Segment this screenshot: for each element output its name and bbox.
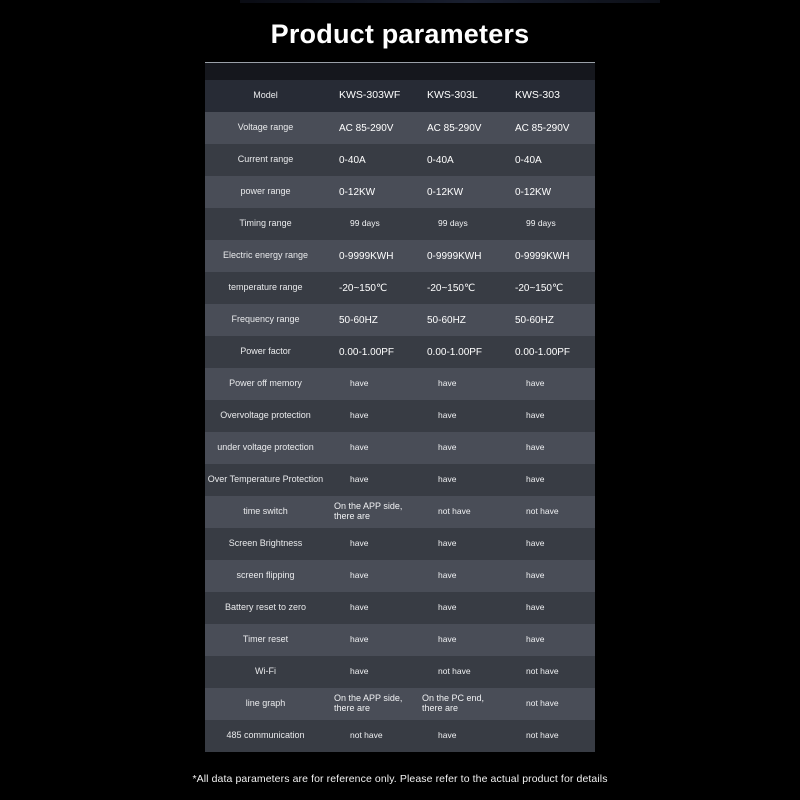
row-value-col-1: have [330,475,418,484]
row-label: under voltage protection [205,443,330,453]
header-model-2: KWS-303L [418,90,506,102]
row-value-col-2: have [418,411,506,420]
row-label: line graph [205,699,330,709]
row-value-col-1: not have [330,731,418,740]
top-edge-strip [240,0,660,3]
row-label: Screen Brightness [205,539,330,549]
row-label: Power off memory [205,379,330,389]
row-value-col-2: 0.00-1.00PF [418,347,506,358]
row-label: power range [205,187,330,197]
table-row: Timer resethavehavehave [205,624,595,656]
row-value-col-3: 0-9999KWH [506,251,595,262]
row-value-col-3: 0-12KW [506,187,595,198]
row-value-col-1: have [330,379,418,388]
table-row: Screen Brightnesshavehavehave [205,528,595,560]
table-row: Timing range99 days99 days99 days [205,208,595,240]
row-value-col-1: have [330,635,418,644]
table-row: Overvoltage protectionhavehavehave [205,400,595,432]
row-label: Current range [205,155,330,165]
table-row: temperature range-20~150℃-20~150℃-20~150… [205,272,595,304]
table-row: Frequency range50-60HZ50-60HZ50-60HZ [205,304,595,336]
row-label: Power factor [205,347,330,357]
row-value-col-2: have [418,635,506,644]
row-value-col-2: have [418,731,506,740]
row-value-col-2: have [418,443,506,452]
row-value-col-1: -20~150℃ [330,283,418,294]
row-label: Electric energy range [205,251,330,261]
row-value-col-2: On the PC end, there are [418,694,506,714]
row-value-col-2: 0-9999KWH [418,251,506,262]
row-value-col-2: 0-40A [418,155,506,166]
header-model-3: KWS-303 [506,90,595,102]
row-value-col-3: not have [506,731,595,740]
table-row: under voltage protectionhavehavehave [205,432,595,464]
header-label-model: Model [205,91,330,101]
row-value-col-1: 99 days [330,219,418,228]
table-row: line graphOn the APP side, there areOn t… [205,688,595,720]
row-value-col-1: 0.00-1.00PF [330,347,418,358]
row-value-col-1: have [330,539,418,548]
row-value-col-2: have [418,571,506,580]
row-value-col-1: have [330,571,418,580]
row-label: Over Temperature Protection [205,475,330,485]
row-value-col-1: have [330,603,418,612]
table-row: Battery reset to zerohavehavehave [205,592,595,624]
table-row: Power factor0.00-1.00PF0.00-1.00PF0.00-1… [205,336,595,368]
header-model-1: KWS-303WF [330,90,418,102]
table-row: time switchOn the APP side, there arenot… [205,496,595,528]
footnote: *All data parameters are for reference o… [0,773,800,785]
parameters-table: Model KWS-303WF KWS-303L KWS-303 Voltage… [205,62,595,752]
row-value-col-1: have [330,411,418,420]
row-value-col-2: have [418,603,506,612]
table-row: Over Temperature Protectionhavehavehave [205,464,595,496]
row-value-col-2: 99 days [418,219,506,228]
table-row: screen flippinghavehavehave [205,560,595,592]
row-value-col-3: not have [506,667,595,676]
row-value-col-1: 50-60HZ [330,315,418,326]
table-row: 485 communicationnot havehavenot have [205,720,595,752]
row-value-col-3: not have [506,507,595,516]
table-row: Electric energy range0-9999KWH0-9999KWH0… [205,240,595,272]
row-value-col-3: 99 days [506,219,595,228]
row-label: Battery reset to zero [205,603,330,613]
table-row: power range0-12KW0-12KW0-12KW [205,176,595,208]
row-label: temperature range [205,283,330,293]
row-value-col-1: On the APP side, there are [330,694,418,714]
product-parameters-page: Product parameters Model KWS-303WF KWS-3… [0,0,800,800]
table-row: Power off memoryhavehavehave [205,368,595,400]
row-label: Overvoltage protection [205,411,330,421]
row-value-col-3: have [506,443,595,452]
row-value-col-2: have [418,539,506,548]
row-label: Wi-Fi [205,667,330,677]
row-value-col-1: AC 85-290V [330,123,418,134]
row-value-col-3: have [506,571,595,580]
row-value-col-3: not have [506,699,595,708]
table-top-band [205,63,595,80]
row-value-col-3: have [506,475,595,484]
row-value-col-3: have [506,411,595,420]
row-label: time switch [205,507,330,517]
row-value-col-2: not have [418,507,506,516]
row-value-col-2: 50-60HZ [418,315,506,326]
row-value-col-3: 0.00-1.00PF [506,347,595,358]
row-value-col-3: have [506,635,595,644]
row-value-col-1: 0-9999KWH [330,251,418,262]
row-value-col-2: have [418,475,506,484]
row-value-col-3: 0-40A [506,155,595,166]
row-label: Timing range [205,219,330,229]
row-value-col-1: have [330,443,418,452]
row-value-col-3: AC 85-290V [506,123,595,134]
table-header-row: Model KWS-303WF KWS-303L KWS-303 [205,80,595,112]
row-value-col-3: 50-60HZ [506,315,595,326]
row-value-col-1: 0-40A [330,155,418,166]
row-value-col-2: not have [418,667,506,676]
row-value-col-2: 0-12KW [418,187,506,198]
row-value-col-3: have [506,539,595,548]
row-value-col-2: have [418,379,506,388]
row-label: Timer reset [205,635,330,645]
row-value-col-1: On the APP side, there are [330,502,418,522]
row-value-col-3: -20~150℃ [506,283,595,294]
page-title: Product parameters [0,19,800,50]
row-value-col-1: have [330,667,418,676]
row-label: Voltage range [205,123,330,133]
row-value-col-3: have [506,603,595,612]
table-row: Wi-Fihavenot havenot have [205,656,595,688]
row-label: screen flipping [205,571,330,581]
row-value-col-2: -20~150℃ [418,283,506,294]
row-value-col-3: have [506,379,595,388]
table-row: Current range0-40A0-40A0-40A [205,144,595,176]
row-label: Frequency range [205,315,330,325]
row-value-col-1: 0-12KW [330,187,418,198]
row-label: 485 communication [205,731,330,741]
table-row: Voltage rangeAC 85-290VAC 85-290VAC 85-2… [205,112,595,144]
row-value-col-2: AC 85-290V [418,123,506,134]
